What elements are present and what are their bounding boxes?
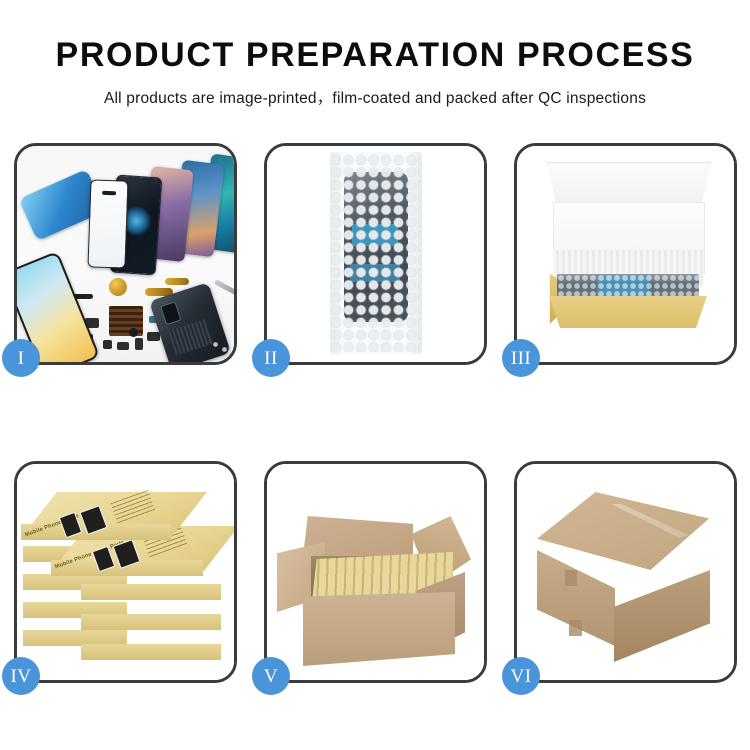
- step-panel-1: I: [14, 143, 237, 365]
- step-1-image: [17, 146, 234, 362]
- process-steps-grid: I II: [14, 143, 738, 688]
- part-camera-module: [129, 328, 138, 337]
- carton-front-face: [303, 592, 455, 666]
- part-chip-5: [135, 338, 143, 350]
- carton-handle-tab-2: [569, 620, 582, 636]
- step-4-image: Mobile Phone Spare Parts Mobile Phone Sp…: [17, 464, 234, 680]
- stacked-box-r3: [81, 636, 221, 660]
- box-front: [81, 644, 221, 660]
- part-flex-cable-2: [165, 278, 189, 285]
- stacked-box-r1: [81, 576, 221, 600]
- part-chip-6: [147, 332, 160, 341]
- step-badge-4: IV: [2, 657, 40, 695]
- carton-right-face: [614, 570, 710, 662]
- step-badge-6: VI: [502, 657, 540, 695]
- step-panel-5: V: [264, 461, 487, 683]
- header: PRODUCT PREPARATION PROCESS All products…: [0, 0, 750, 108]
- page-title: PRODUCT PREPARATION PROCESS: [0, 0, 750, 75]
- box-front: [81, 614, 221, 630]
- step-panel-4: Mobile Phone Spare Parts Mobile Phone Sp…: [14, 461, 237, 683]
- carton-handle-tab-1: [565, 570, 577, 586]
- step-3-image: [517, 146, 734, 362]
- bubble-wrap-scene: [267, 146, 484, 362]
- step-5-image: [267, 464, 484, 680]
- screw-1: [213, 342, 218, 347]
- product-preparation-infographic: PRODUCT PREPARATION PROCESS All products…: [0, 0, 750, 750]
- part-vibration-motor: [109, 278, 127, 296]
- screws-group: [213, 342, 234, 358]
- step-2-image: [267, 146, 484, 362]
- stacked-box-r2: [81, 606, 221, 630]
- part-chip-3: [103, 340, 112, 349]
- open-kraft-box-scene: [517, 146, 734, 362]
- step-panel-6: VI: [514, 461, 737, 683]
- screen-protector-graphic: [87, 179, 128, 268]
- step-panel-2: II: [264, 143, 487, 365]
- part-chip-4: [117, 342, 129, 350]
- step-badge-2: II: [252, 339, 290, 377]
- open-carton-scene: [267, 464, 484, 680]
- step-badge-5: V: [252, 657, 290, 695]
- page-subtitle: All products are image-printed，film-coat…: [0, 75, 750, 108]
- step-badge-1: I: [2, 339, 40, 377]
- box-front: [81, 584, 221, 600]
- screw-3: [229, 353, 234, 358]
- step-badge-3: III: [502, 339, 540, 377]
- carton-top-face: [537, 492, 709, 570]
- step-6-image: [517, 464, 734, 680]
- box-front-panel: [549, 296, 707, 328]
- step-panel-3: III: [514, 143, 737, 365]
- sealed-carton-scene: [517, 464, 734, 680]
- screw-2: [222, 347, 227, 352]
- phones-and-parts-scene: [17, 146, 234, 362]
- bubble-texture-overlay: [330, 154, 422, 352]
- stacked-boxes-scene: Mobile Phone Spare Parts Mobile Phone Sp…: [17, 464, 234, 680]
